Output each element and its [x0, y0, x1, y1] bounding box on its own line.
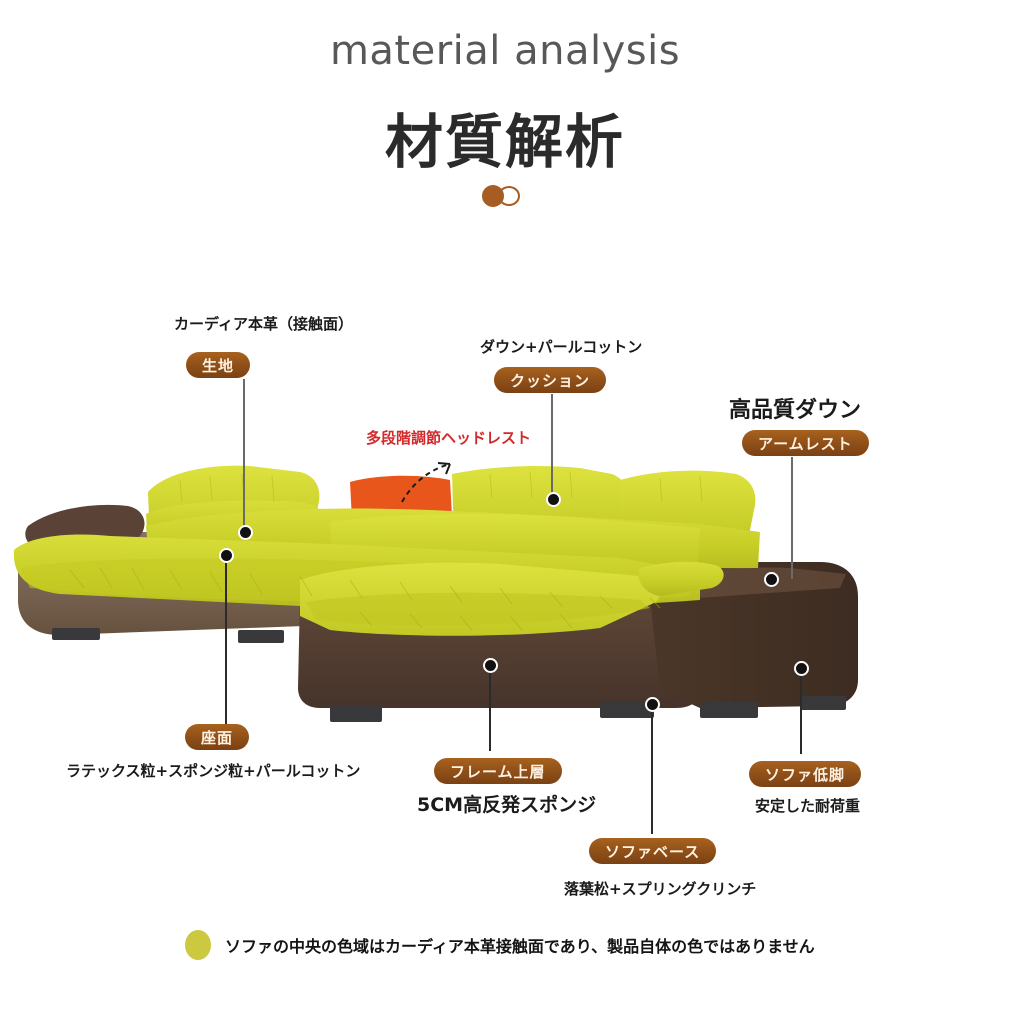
callout-dot-fabric[interactable] [238, 525, 253, 540]
callout-caption-seat: ラテックス粒+スポンジ粒+パールコットン [66, 760, 360, 781]
watermark-english: YUXINJIAJU [352, 986, 682, 1003]
callout-pill-fabric[interactable]: 生地 [186, 352, 250, 378]
footer-note-dot-icon [185, 930, 211, 960]
callout-dot-sofa-base[interactable] [645, 697, 660, 712]
callout-pill-frame-top[interactable]: フレーム上層 [434, 758, 562, 784]
callout-dot-low-leg[interactable] [794, 661, 809, 676]
callout-dot-frame-top[interactable] [483, 658, 498, 673]
callout-caption-headrest: 多段階調節ヘッドレスト [366, 427, 531, 448]
leader-line-fabric [243, 379, 245, 532]
leader-line-cushion [551, 394, 553, 499]
page-title-english: material analysis [0, 28, 1010, 74]
dot-ornament-icon [482, 185, 528, 207]
ornament-outline-circle [498, 186, 520, 206]
headrest-arrow-icon [398, 450, 468, 505]
leader-line-sofa-base [651, 712, 653, 834]
leader-line-low-leg [800, 676, 802, 754]
page-root: material analysis 材質解析 [0, 0, 1010, 1026]
leader-line-seat [225, 563, 227, 726]
callout-pill-sofa-base[interactable]: ソファベース [589, 838, 716, 864]
leader-line-armrest [791, 457, 793, 579]
footer-note-text: ソファの中央の色域はカーディア本革接触面であり、製品自体の色ではありません [225, 933, 815, 957]
footer-note: ソファの中央の色域はカーディア本革接触面であり、製品自体の色ではありません [185, 930, 815, 960]
callout-caption-armrest: 高品質ダウン [729, 392, 861, 424]
callout-caption-cushion: ダウン+パールコットン [480, 336, 642, 357]
callout-caption-low-leg: 安定した耐荷重 [755, 795, 860, 816]
callout-dot-armrest[interactable] [764, 572, 779, 587]
product-illustration: 渝欣家具 YUXINJIAJU [0, 440, 1010, 760]
callout-caption-frame-top: 5CM高反発スポンジ [417, 790, 596, 817]
callout-pill-low-leg[interactable]: ソファ低脚 [749, 761, 861, 787]
callout-caption-fabric: カーディア本革（接触面） [174, 313, 353, 334]
callout-pill-armrest[interactable]: アームレスト [742, 430, 869, 456]
callout-dot-cushion[interactable] [546, 492, 561, 507]
callout-pill-cushion[interactable]: クッション [494, 367, 606, 393]
callout-caption-sofa-base: 落葉松+スプリングクリンチ [564, 878, 756, 899]
callout-pill-seat[interactable]: 座面 [185, 724, 249, 750]
callout-dot-seat[interactable] [219, 548, 234, 563]
sofa-svg [0, 440, 1010, 760]
page-title-japanese: 材質解析 [0, 95, 1010, 179]
leader-line-frame-top [489, 673, 491, 751]
